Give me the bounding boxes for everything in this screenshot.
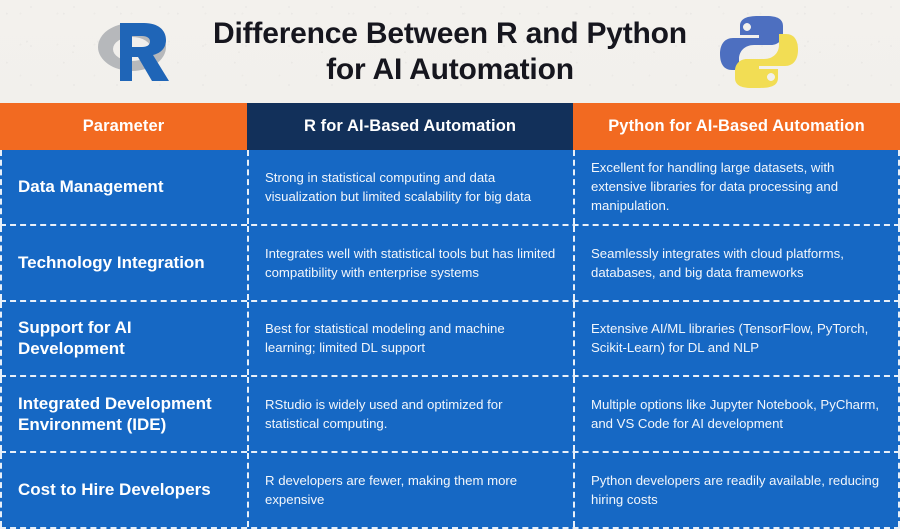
- row-python-value: Seamlessly integrates with cloud platfor…: [573, 226, 900, 300]
- table-row: Support for AI Development Best for stat…: [0, 302, 900, 378]
- row-r-value: RStudio is widely used and optimized for…: [247, 377, 573, 451]
- row-python-text: Python developers are readily available,…: [591, 471, 882, 509]
- row-r-value: Integrates well with statistical tools b…: [247, 226, 573, 300]
- column-header-parameter: Parameter: [0, 103, 247, 150]
- row-parameter-label: Technology Integration: [0, 226, 247, 300]
- row-python-value: Excellent for handling large datasets, w…: [573, 150, 900, 224]
- row-r-value: Strong in statistical computing and data…: [247, 150, 573, 224]
- row-python-text: Seamlessly integrates with cloud platfor…: [591, 244, 882, 282]
- table-row: Cost to Hire Developers R developers are…: [0, 453, 900, 529]
- column-header-r: R for AI-Based Automation: [247, 103, 573, 150]
- table-row: Data Management Strong in statistical co…: [0, 150, 900, 226]
- title-line-1: Difference Between R and Python: [213, 17, 687, 50]
- row-python-text: Extensive AI/ML libraries (TensorFlow, P…: [591, 319, 882, 357]
- row-r-text: RStudio is widely used and optimized for…: [265, 395, 557, 433]
- comparison-table: Parameter R for AI-Based Automation Pyth…: [0, 103, 900, 529]
- row-parameter-label: Cost to Hire Developers: [0, 453, 247, 527]
- title-line-2: for AI Automation: [213, 52, 687, 87]
- column-header-python: Python for AI-Based Automation: [573, 103, 900, 150]
- python-language-logo-icon: [716, 10, 802, 94]
- row-parameter-label: Integrated Development Environment (IDE): [0, 377, 247, 451]
- row-python-value: Multiple options like Jupyter Notebook, …: [573, 377, 900, 451]
- row-r-text: Best for statistical modeling and machin…: [265, 319, 557, 357]
- row-r-text: Integrates well with statistical tools b…: [265, 244, 557, 282]
- row-r-text: Strong in statistical computing and data…: [265, 168, 557, 206]
- table-row: Integrated Development Environment (IDE)…: [0, 377, 900, 453]
- row-r-text: R developers are fewer, making them more…: [265, 471, 557, 509]
- row-python-value: Extensive AI/ML libraries (TensorFlow, P…: [573, 302, 900, 376]
- title-band: Difference Between R and Python for AI A…: [0, 0, 900, 103]
- table-row: Technology Integration Integrates well w…: [0, 226, 900, 302]
- row-r-value: R developers are fewer, making them more…: [247, 453, 573, 527]
- row-parameter-label: Support for AI Development: [0, 302, 247, 376]
- page-title: Difference Between R and Python for AI A…: [213, 16, 687, 87]
- row-python-text: Excellent for handling large datasets, w…: [591, 158, 882, 215]
- infographic-root: Difference Between R and Python for AI A…: [0, 0, 900, 529]
- row-python-value: Python developers are readily available,…: [573, 453, 900, 527]
- row-parameter-label: Data Management: [0, 150, 247, 224]
- row-r-value: Best for statistical modeling and machin…: [247, 302, 573, 376]
- r-language-logo-icon: [86, 11, 182, 93]
- table-header-row: Parameter R for AI-Based Automation Pyth…: [0, 103, 900, 150]
- row-python-text: Multiple options like Jupyter Notebook, …: [591, 395, 882, 433]
